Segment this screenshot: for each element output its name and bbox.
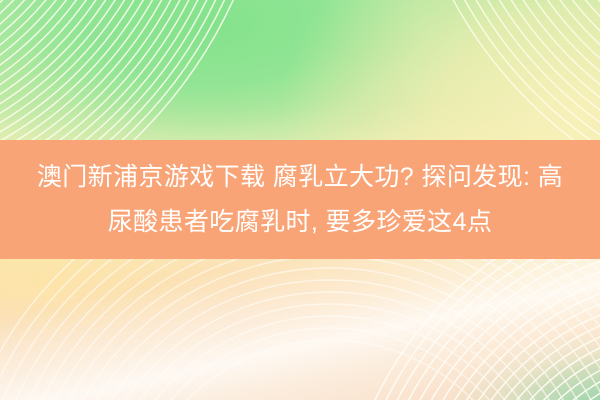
title-line-2: 尿酸患者吃腐乳时, 要多珍爱这4点 [108, 200, 493, 245]
poster-canvas: 澳门新浦京游戏下载 腐乳立大功? 探问发现: 高 尿酸患者吃腐乳时, 要多珍爱这… [0, 0, 600, 400]
title-banner: 澳门新浦京游戏下载 腐乳立大功? 探问发现: 高 尿酸患者吃腐乳时, 要多珍爱这… [0, 140, 600, 259]
title-line-1: 澳门新浦京游戏下载 腐乳立大功? 探问发现: 高 [37, 155, 563, 200]
arc-fan-bottom-left-icon [0, 290, 380, 400]
